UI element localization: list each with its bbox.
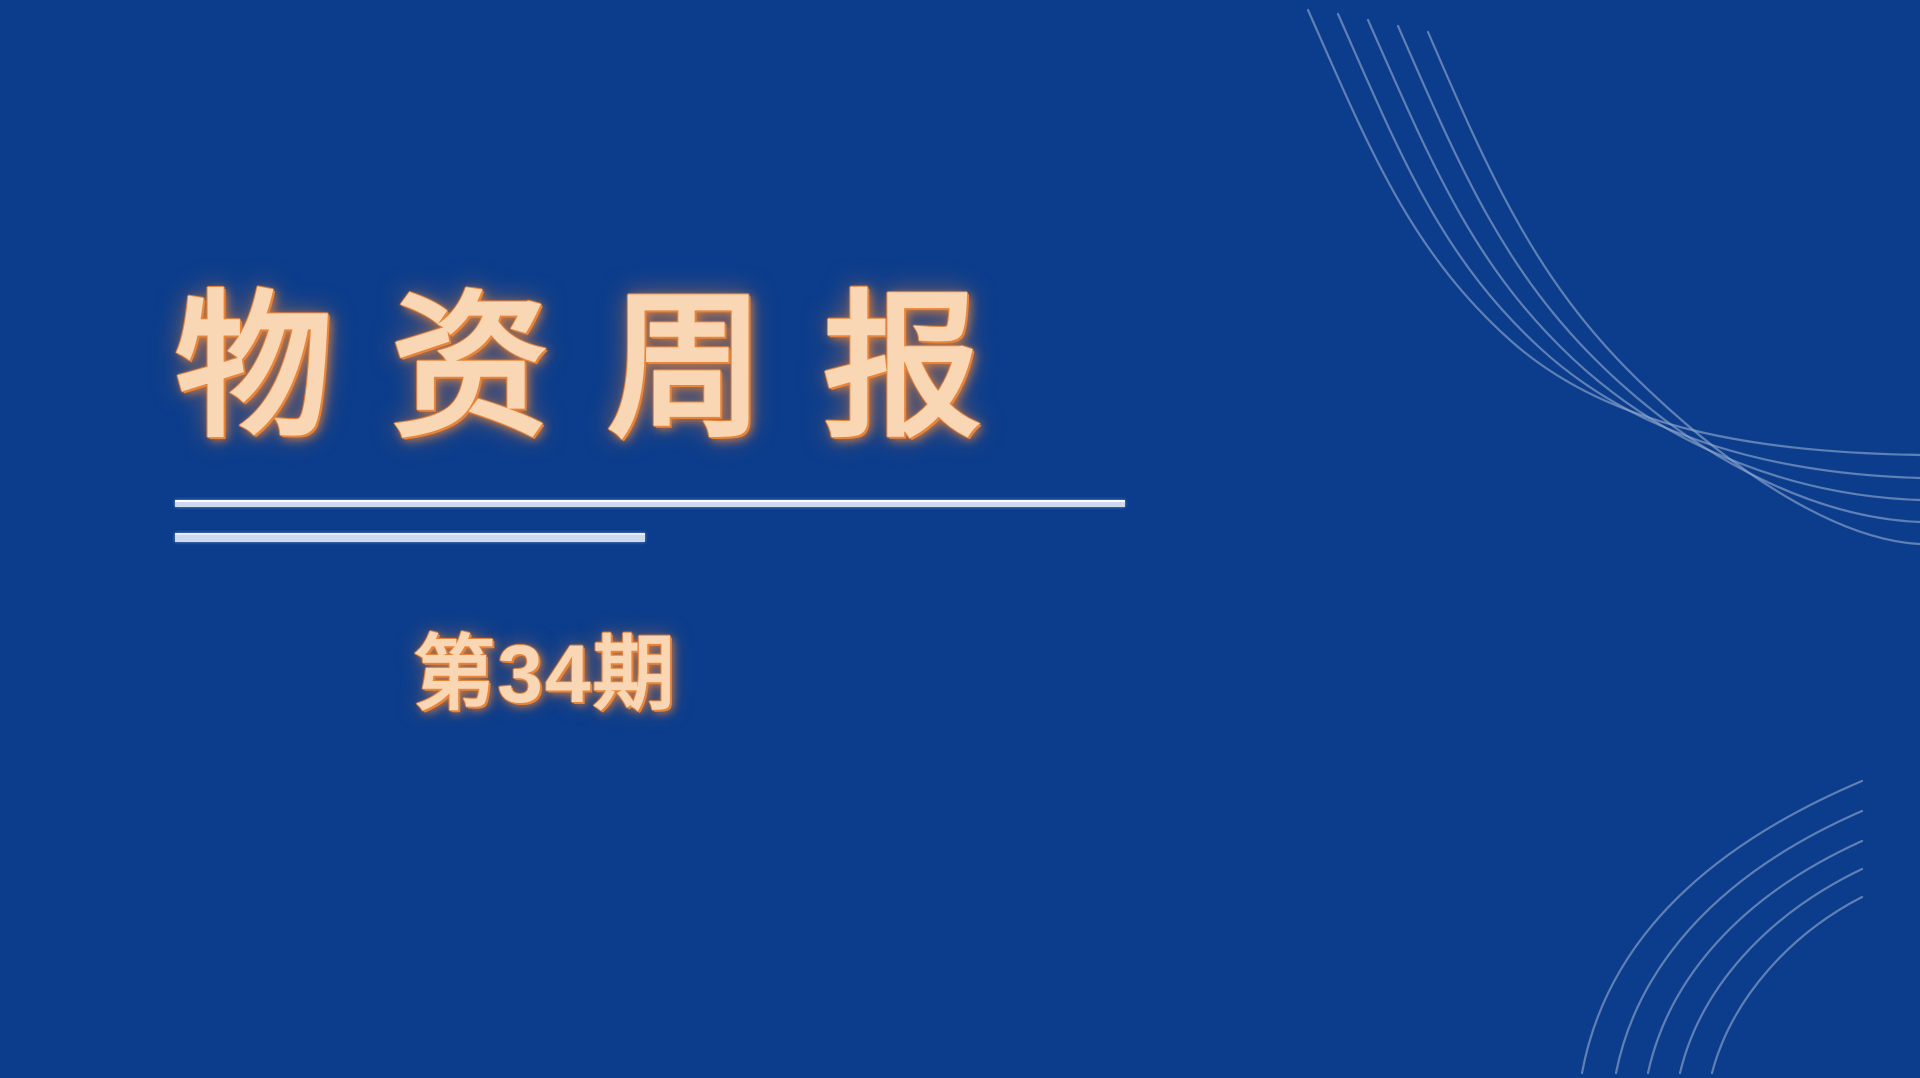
title-block: 物资周报 xyxy=(175,288,1175,449)
arc-line xyxy=(1648,841,1862,1073)
title-rule-primary xyxy=(175,500,1125,507)
page-title: 物资周报 xyxy=(175,288,1175,449)
arc-line xyxy=(1616,811,1862,1073)
title-slide: 物资周报 第34期 xyxy=(0,0,1920,1078)
swoosh-lines-top-right-icon xyxy=(1260,0,1920,580)
swoosh-line xyxy=(1398,26,1920,522)
title-underline-group xyxy=(175,500,1125,542)
swoosh-line xyxy=(1368,20,1920,500)
arc-line xyxy=(1680,869,1862,1073)
issue-label: 第34期 xyxy=(175,630,915,720)
arc-line xyxy=(1582,781,1862,1073)
arc-lines-bottom-right-icon xyxy=(1490,733,1920,1078)
title-rule-secondary xyxy=(175,533,645,542)
arc-line xyxy=(1712,897,1862,1073)
swoosh-line xyxy=(1308,10,1920,455)
swoosh-line xyxy=(1428,32,1920,544)
swoosh-line xyxy=(1338,14,1920,478)
